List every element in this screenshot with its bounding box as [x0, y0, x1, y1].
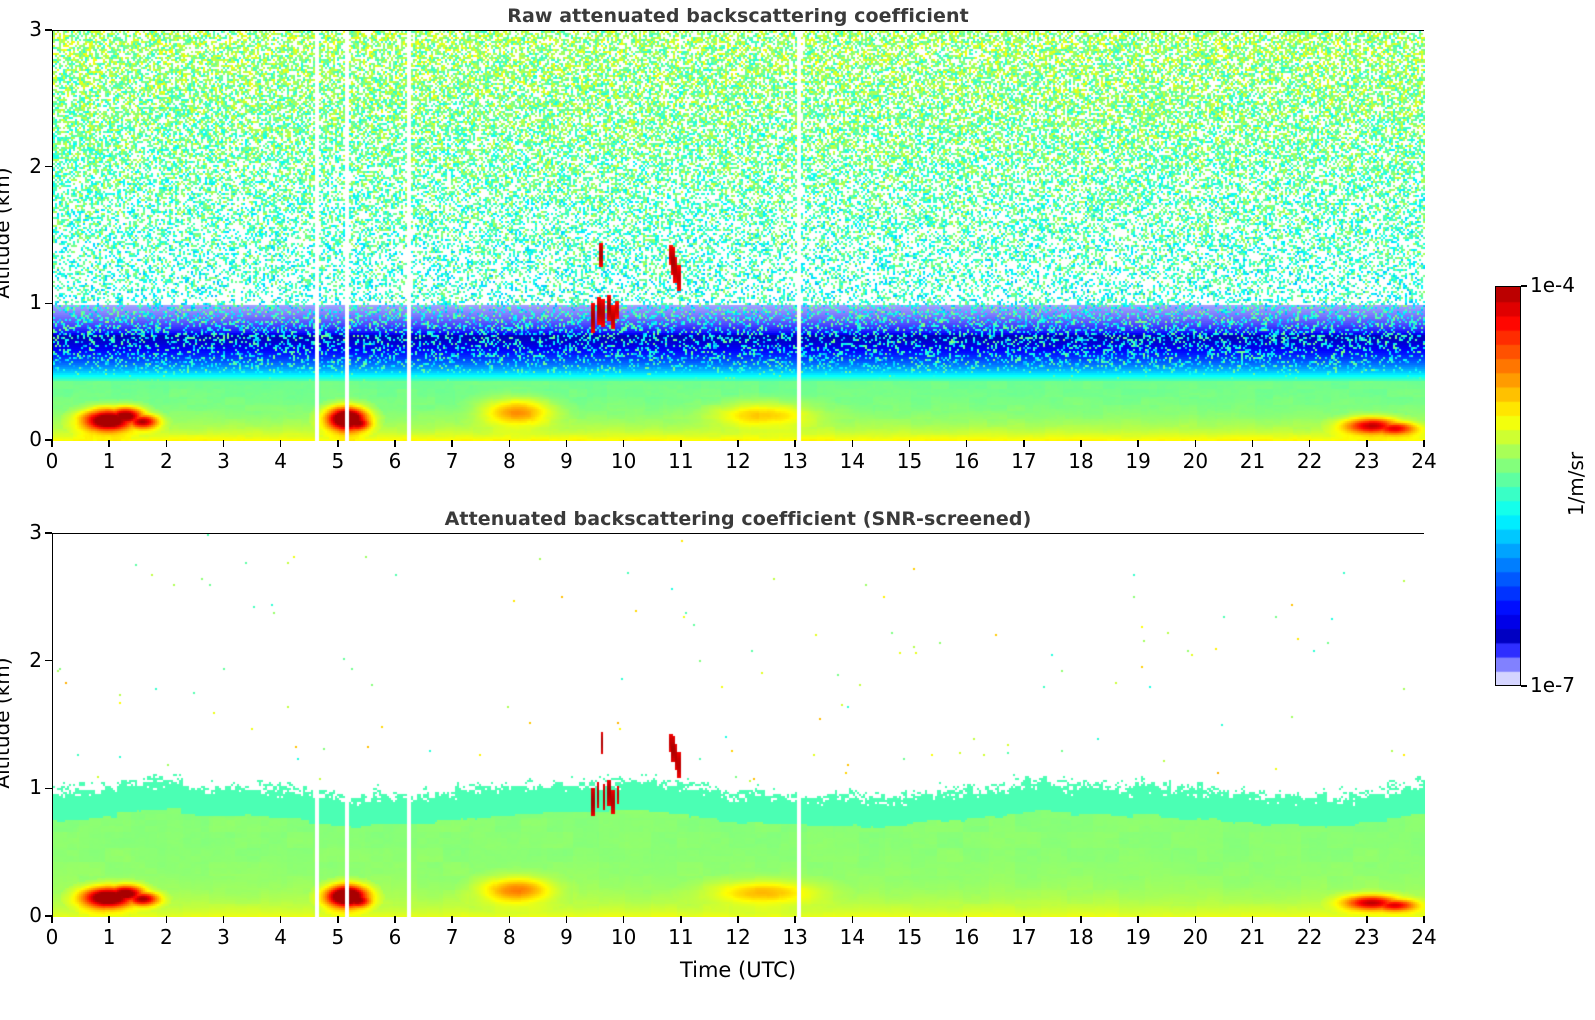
- y-tick-mark: [45, 29, 52, 30]
- x-axis-label: Time (UTC): [0, 958, 1536, 982]
- x-tick-label: 10: [594, 449, 654, 473]
- x-tick-mark: [337, 440, 338, 447]
- y-tick-label: 1: [0, 290, 42, 314]
- x-tick-mark: [1195, 440, 1196, 447]
- colorbar-tick-mark: [1521, 285, 1527, 286]
- x-tick-mark: [909, 916, 910, 923]
- x-tick-label: 8: [479, 925, 539, 949]
- y-tick-label: 3: [0, 520, 42, 544]
- x-tick-mark: [1137, 440, 1138, 447]
- x-tick-label: 10: [594, 925, 654, 949]
- x-tick-mark: [51, 440, 52, 447]
- figure-canvas: Raw attenuated backscattering coefficien…: [0, 0, 1595, 1020]
- x-tick-mark: [108, 916, 109, 923]
- x-tick-mark: [280, 916, 281, 923]
- x-tick-mark: [280, 440, 281, 447]
- colorbar-unit-label: 1/m/sr: [1564, 419, 1588, 549]
- x-tick-label: 24: [1394, 449, 1454, 473]
- y-tick-label: 2: [0, 154, 42, 178]
- x-tick-label: 12: [708, 449, 768, 473]
- x-tick-mark: [509, 440, 510, 447]
- plot-area-screened[interactable]: [52, 533, 1424, 916]
- x-tick-mark: [680, 916, 681, 923]
- x-tick-label: 18: [1051, 925, 1111, 949]
- x-tick-label: 11: [651, 449, 711, 473]
- x-tick-label: 1: [79, 925, 139, 949]
- x-tick-mark: [966, 916, 967, 923]
- y-tick-label: 1: [0, 775, 42, 799]
- x-tick-label: 23: [1337, 449, 1397, 473]
- x-tick-label: 6: [365, 449, 425, 473]
- x-tick-mark: [852, 916, 853, 923]
- y-tick-mark: [45, 439, 52, 440]
- x-tick-mark: [166, 916, 167, 923]
- x-tick-label: 2: [136, 449, 196, 473]
- x-tick-label: 8: [479, 449, 539, 473]
- x-tick-label: 2: [136, 925, 196, 949]
- y-tick-mark: [45, 166, 52, 167]
- y-tick-label: 0: [0, 903, 42, 927]
- panel-title-screened: Attenuated backscattering coefficient (S…: [0, 508, 1536, 530]
- x-tick-label: 12: [708, 925, 768, 949]
- panel-title-raw: Raw attenuated backscattering coefficien…: [0, 5, 1536, 27]
- plot-area-raw[interactable]: [52, 30, 1424, 440]
- x-tick-label: 13: [765, 925, 825, 949]
- x-tick-mark: [966, 440, 967, 447]
- x-tick-mark: [1080, 440, 1081, 447]
- x-tick-mark: [852, 440, 853, 447]
- x-tick-label: 21: [1223, 925, 1283, 949]
- colorbar-gradient: [1496, 287, 1520, 685]
- x-tick-mark: [1252, 916, 1253, 923]
- colorbar-min-label: 1e-7: [1530, 673, 1575, 697]
- y-tick-mark: [45, 303, 52, 304]
- x-tick-mark: [1366, 916, 1367, 923]
- x-tick-mark: [223, 916, 224, 923]
- x-tick-label: 22: [1280, 925, 1340, 949]
- x-tick-mark: [51, 916, 52, 923]
- x-tick-mark: [566, 440, 567, 447]
- x-tick-mark: [1423, 916, 1424, 923]
- x-tick-label: 0: [22, 925, 82, 949]
- x-tick-label: 15: [880, 925, 940, 949]
- x-tick-label: 21: [1223, 449, 1283, 473]
- x-tick-mark: [794, 916, 795, 923]
- x-tick-label: 16: [937, 925, 997, 949]
- colorbar[interactable]: [1495, 286, 1521, 686]
- x-tick-label: 1: [79, 449, 139, 473]
- x-tick-label: 0: [22, 449, 82, 473]
- x-tick-label: 4: [251, 925, 311, 949]
- x-tick-label: 23: [1337, 925, 1397, 949]
- x-tick-label: 9: [537, 449, 597, 473]
- x-tick-label: 19: [1108, 449, 1168, 473]
- x-tick-mark: [566, 916, 567, 923]
- x-tick-label: 7: [422, 925, 482, 949]
- x-tick-label: 6: [365, 925, 425, 949]
- x-tick-mark: [1023, 916, 1024, 923]
- x-tick-mark: [337, 916, 338, 923]
- x-tick-mark: [1309, 440, 1310, 447]
- x-tick-label: 5: [308, 925, 368, 949]
- y-tick-label: 2: [0, 648, 42, 672]
- heatmap-screened: [53, 534, 1425, 917]
- x-tick-label: 15: [880, 449, 940, 473]
- x-tick-label: 14: [822, 925, 882, 949]
- x-tick-mark: [394, 916, 395, 923]
- x-tick-mark: [1195, 916, 1196, 923]
- x-tick-mark: [1423, 440, 1424, 447]
- x-tick-label: 9: [537, 925, 597, 949]
- x-tick-label: 4: [251, 449, 311, 473]
- y-tick-mark: [45, 915, 52, 916]
- x-tick-mark: [394, 440, 395, 447]
- x-tick-mark: [451, 440, 452, 447]
- y-tick-mark: [45, 788, 52, 789]
- x-tick-mark: [737, 916, 738, 923]
- x-tick-mark: [166, 440, 167, 447]
- x-tick-label: 7: [422, 449, 482, 473]
- x-tick-mark: [108, 440, 109, 447]
- x-tick-label: 19: [1108, 925, 1168, 949]
- x-tick-mark: [451, 916, 452, 923]
- x-tick-label: 20: [1165, 449, 1225, 473]
- x-tick-mark: [1309, 916, 1310, 923]
- x-tick-mark: [1080, 916, 1081, 923]
- x-tick-mark: [223, 440, 224, 447]
- x-tick-label: 5: [308, 449, 368, 473]
- x-tick-mark: [794, 440, 795, 447]
- x-tick-mark: [680, 440, 681, 447]
- x-tick-mark: [1366, 440, 1367, 447]
- x-tick-label: 17: [994, 925, 1054, 949]
- heatmap-raw: [53, 31, 1425, 441]
- x-tick-mark: [509, 916, 510, 923]
- x-tick-label: 18: [1051, 449, 1111, 473]
- x-tick-label: 13: [765, 449, 825, 473]
- x-tick-label: 14: [822, 449, 882, 473]
- x-tick-mark: [909, 440, 910, 447]
- x-tick-label: 24: [1394, 925, 1454, 949]
- x-tick-label: 16: [937, 449, 997, 473]
- x-tick-mark: [1023, 440, 1024, 447]
- x-tick-mark: [1137, 916, 1138, 923]
- y-tick-label: 3: [0, 17, 42, 41]
- colorbar-tick-mark: [1521, 685, 1527, 686]
- y-tick-mark: [45, 532, 52, 533]
- y-tick-label: 0: [0, 427, 42, 451]
- y-tick-mark: [45, 660, 52, 661]
- colorbar-max-label: 1e-4: [1530, 273, 1575, 297]
- x-tick-mark: [623, 916, 624, 923]
- x-tick-label: 17: [994, 449, 1054, 473]
- x-tick-label: 3: [194, 449, 254, 473]
- x-tick-mark: [1252, 440, 1253, 447]
- x-tick-label: 22: [1280, 449, 1340, 473]
- x-tick-label: 3: [194, 925, 254, 949]
- x-tick-mark: [737, 440, 738, 447]
- x-tick-label: 11: [651, 925, 711, 949]
- x-tick-label: 20: [1165, 925, 1225, 949]
- x-tick-mark: [623, 440, 624, 447]
